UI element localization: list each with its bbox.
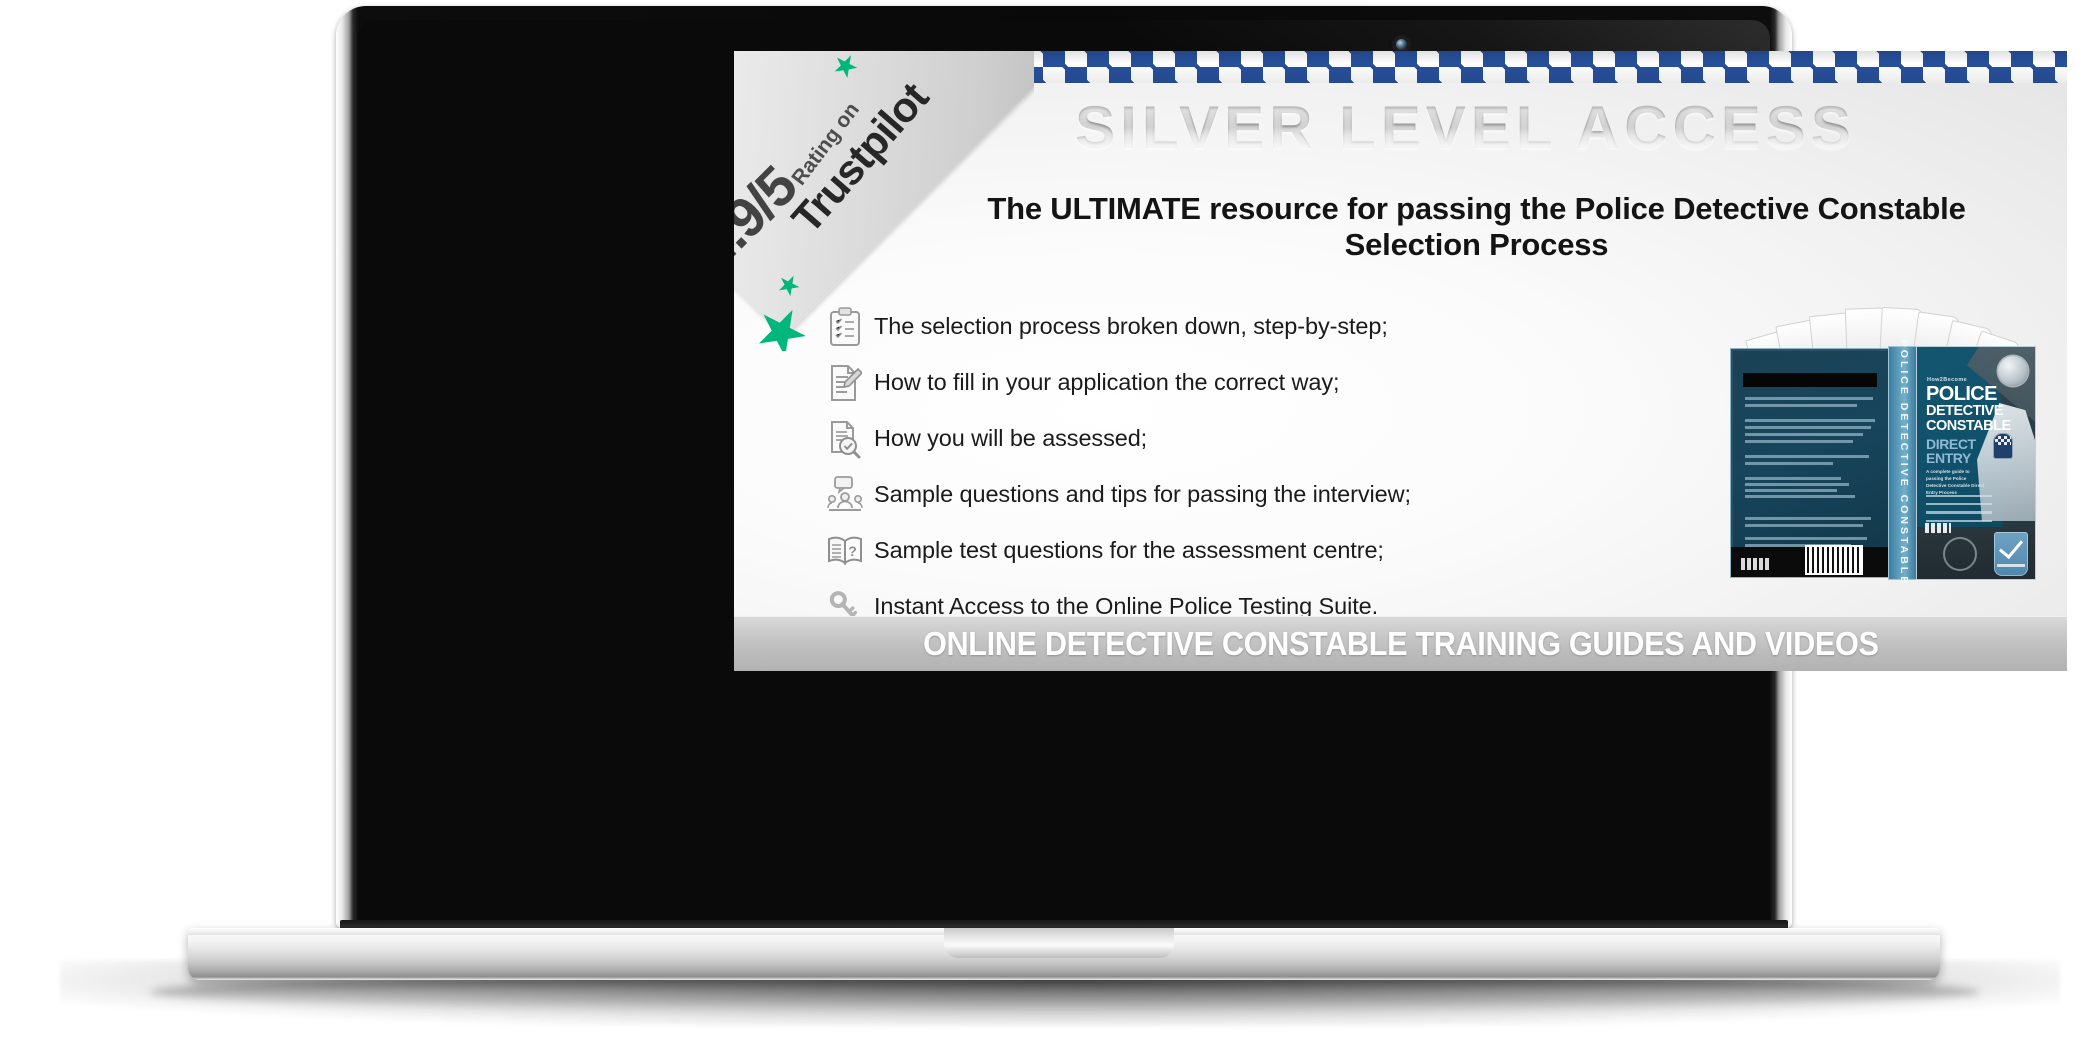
book-spine-title: POLICE DETECTIVE CONSTABLE	[1898, 340, 1910, 586]
list-item-label: Sample questions and tips for passing th…	[874, 481, 1411, 508]
open-book-question-icon: ?	[816, 534, 874, 568]
publisher-logo-icon	[1741, 558, 1769, 570]
list-item: Sample questions and tips for passing th…	[816, 467, 1576, 522]
publisher-logo-front-icon	[1925, 523, 1951, 533]
laptop-base-notch	[944, 928, 1174, 958]
barcode-icon	[1805, 545, 1863, 575]
screenshot-root: SILVER LEVEL ACCESS The ULTIMATE resourc…	[0, 0, 2100, 1042]
list-item: How to fill in your application the corr…	[816, 355, 1576, 410]
trustpilot-ribbon: WE GET A 4.9/5 Rating on Trustpilot ★ ★ …	[734, 51, 1034, 351]
svg-text:?: ?	[848, 543, 857, 559]
slide-canvas: SILVER LEVEL ACCESS The ULTIMATE resourc…	[734, 51, 2067, 671]
page-subtitle: The ULTIMATE resource for passing the Po…	[934, 191, 2019, 263]
cover-line-1: POLICE	[1926, 385, 1997, 404]
footer-banner-label: ONLINE DETECTIVE CONSTABLE TRAINING GUID…	[923, 625, 1879, 663]
document-pencil-icon	[816, 363, 874, 403]
back-cover-banner	[1743, 373, 1877, 387]
police-helmet-icon	[1993, 433, 2013, 459]
interview-people-icon	[816, 475, 874, 515]
list-item-label: How you will be assessed;	[874, 425, 1147, 452]
cover-subtitle: A complete guide to passing the Police D…	[1926, 469, 1988, 497]
list-item: How you will be assessed;	[816, 411, 1576, 466]
cover-line-2: DETECTIVE	[1926, 405, 2003, 419]
list-item-label: Sample test questions for the assessment…	[874, 537, 1384, 564]
list-item: ? Sample test questions for the assessme…	[816, 523, 1576, 578]
ribbon-content: WE GET A 4.9/5 Rating on Trustpilot ★ ★ …	[734, 51, 1034, 351]
webcam-icon	[1396, 39, 1407, 50]
book-mockup: POLICE DETECTIVE CONSTABLE How2Become PO…	[1724, 348, 2034, 581]
tag-label	[1997, 564, 2025, 567]
cover-seal-icon	[1998, 356, 2028, 386]
list-item-label: How to fill in your application the corr…	[874, 369, 1339, 396]
star-icon: ★	[740, 290, 823, 351]
cover-line-5: ENTRY	[1926, 451, 1971, 465]
book-back-cover	[1730, 348, 1892, 578]
police-checker-strip	[933, 51, 2067, 83]
document-magnifier-icon	[816, 419, 874, 459]
star-icon: ★	[826, 51, 866, 87]
cover-line-3: CONSTABLE	[1926, 420, 2011, 434]
laptop-device: SILVER LEVEL ACCESS The ULTIMATE resourc…	[0, 0, 2100, 1042]
cover-line-4: DIRECT	[1926, 437, 1976, 451]
footer-banner: ONLINE DETECTIVE CONSTABLE TRAINING GUID…	[734, 616, 2067, 671]
award-wreath-icon	[1943, 537, 1977, 571]
laptop-lid: SILVER LEVEL ACCESS The ULTIMATE resourc…	[336, 6, 1792, 928]
book-front-cover: How2Become POLICE DETECTIVE CONSTABLE DI…	[1916, 346, 2036, 580]
